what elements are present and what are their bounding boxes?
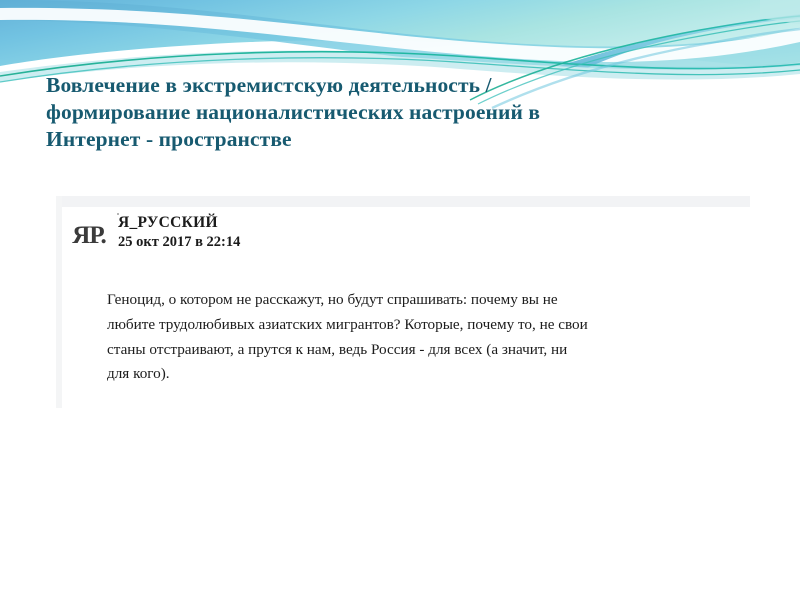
post-body-line-4: для кого). [107, 362, 735, 387]
post-body-line-3: станы отстраивают, а прутся к нам, ведь … [107, 338, 735, 363]
post-header: ЯР. Я_РУССКИЙ 25 окт 2017 в 22:14 [64, 207, 750, 268]
post-marker-dot [117, 213, 119, 215]
page-title: Вовлечение в экстремистскую деятельность… [46, 72, 686, 153]
post-body-text: Геноцид, о котором не расскажут, но буду… [107, 288, 735, 387]
post-meta: Я_РУССКИЙ 25 окт 2017 в 22:14 [118, 214, 240, 251]
title-line-2: формирование националистических настроен… [46, 99, 686, 126]
title-line-3: Интернет - пространстве [46, 126, 686, 153]
slide-blank-area [0, 408, 800, 600]
post-card-left-strip [56, 196, 62, 408]
post-body-line-1: Геноцид, о котором не расскажут, но буду… [107, 288, 735, 313]
post-card-top-strip [56, 196, 750, 207]
post-username[interactable]: Я_РУССКИЙ [118, 214, 240, 232]
avatar[interactable]: ЯР. [68, 213, 110, 257]
post-timestamp[interactable]: 25 окт 2017 в 22:14 [118, 233, 240, 251]
avatar-initials: ЯР. [72, 223, 105, 248]
post-body-line-2: любите трудолюбивых азиатских мигрантов?… [107, 313, 735, 338]
title-line-1: Вовлечение в экстремистскую деятельность… [46, 72, 686, 99]
social-post-card: ЯР. Я_РУССКИЙ 25 окт 2017 в 22:14 Геноци… [56, 196, 750, 408]
presentation-slide: Вовлечение в экстремистскую деятельность… [0, 0, 800, 600]
